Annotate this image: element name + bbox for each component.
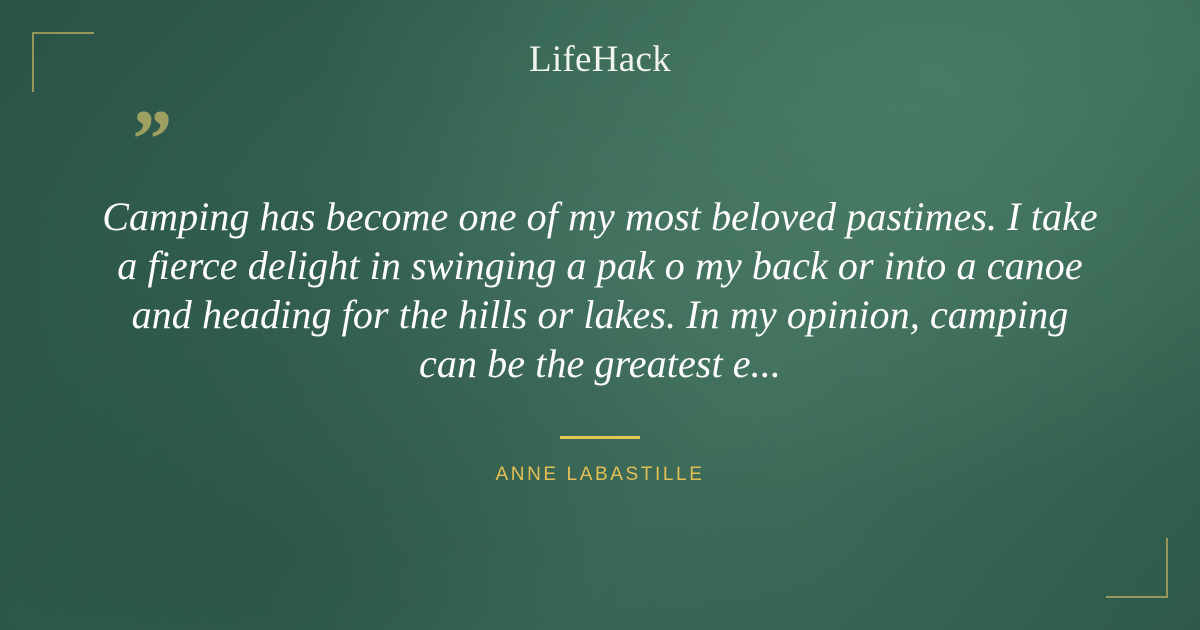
quote-card: LifeHack ” Camping has become one of my … — [0, 0, 1200, 630]
quote-line: a fierce delight in swinging a pak o my … — [80, 241, 1120, 290]
corner-bracket-bottom-right-icon — [1106, 538, 1168, 598]
quote-line: can be the greatest e... — [80, 339, 1120, 388]
quotation-mark-icon: ” — [128, 98, 170, 182]
gold-divider — [560, 436, 640, 439]
lifehack-logo[interactable]: LifeHack — [0, 38, 1200, 81]
quote-line: Camping has become one of my most belove… — [80, 192, 1120, 241]
quote-line: and heading for the hills or lakes. In m… — [80, 290, 1120, 339]
author-name: ANNE LABASTILLE — [0, 464, 1200, 486]
quote-block: Camping has become one of my most belove… — [80, 192, 1120, 388]
